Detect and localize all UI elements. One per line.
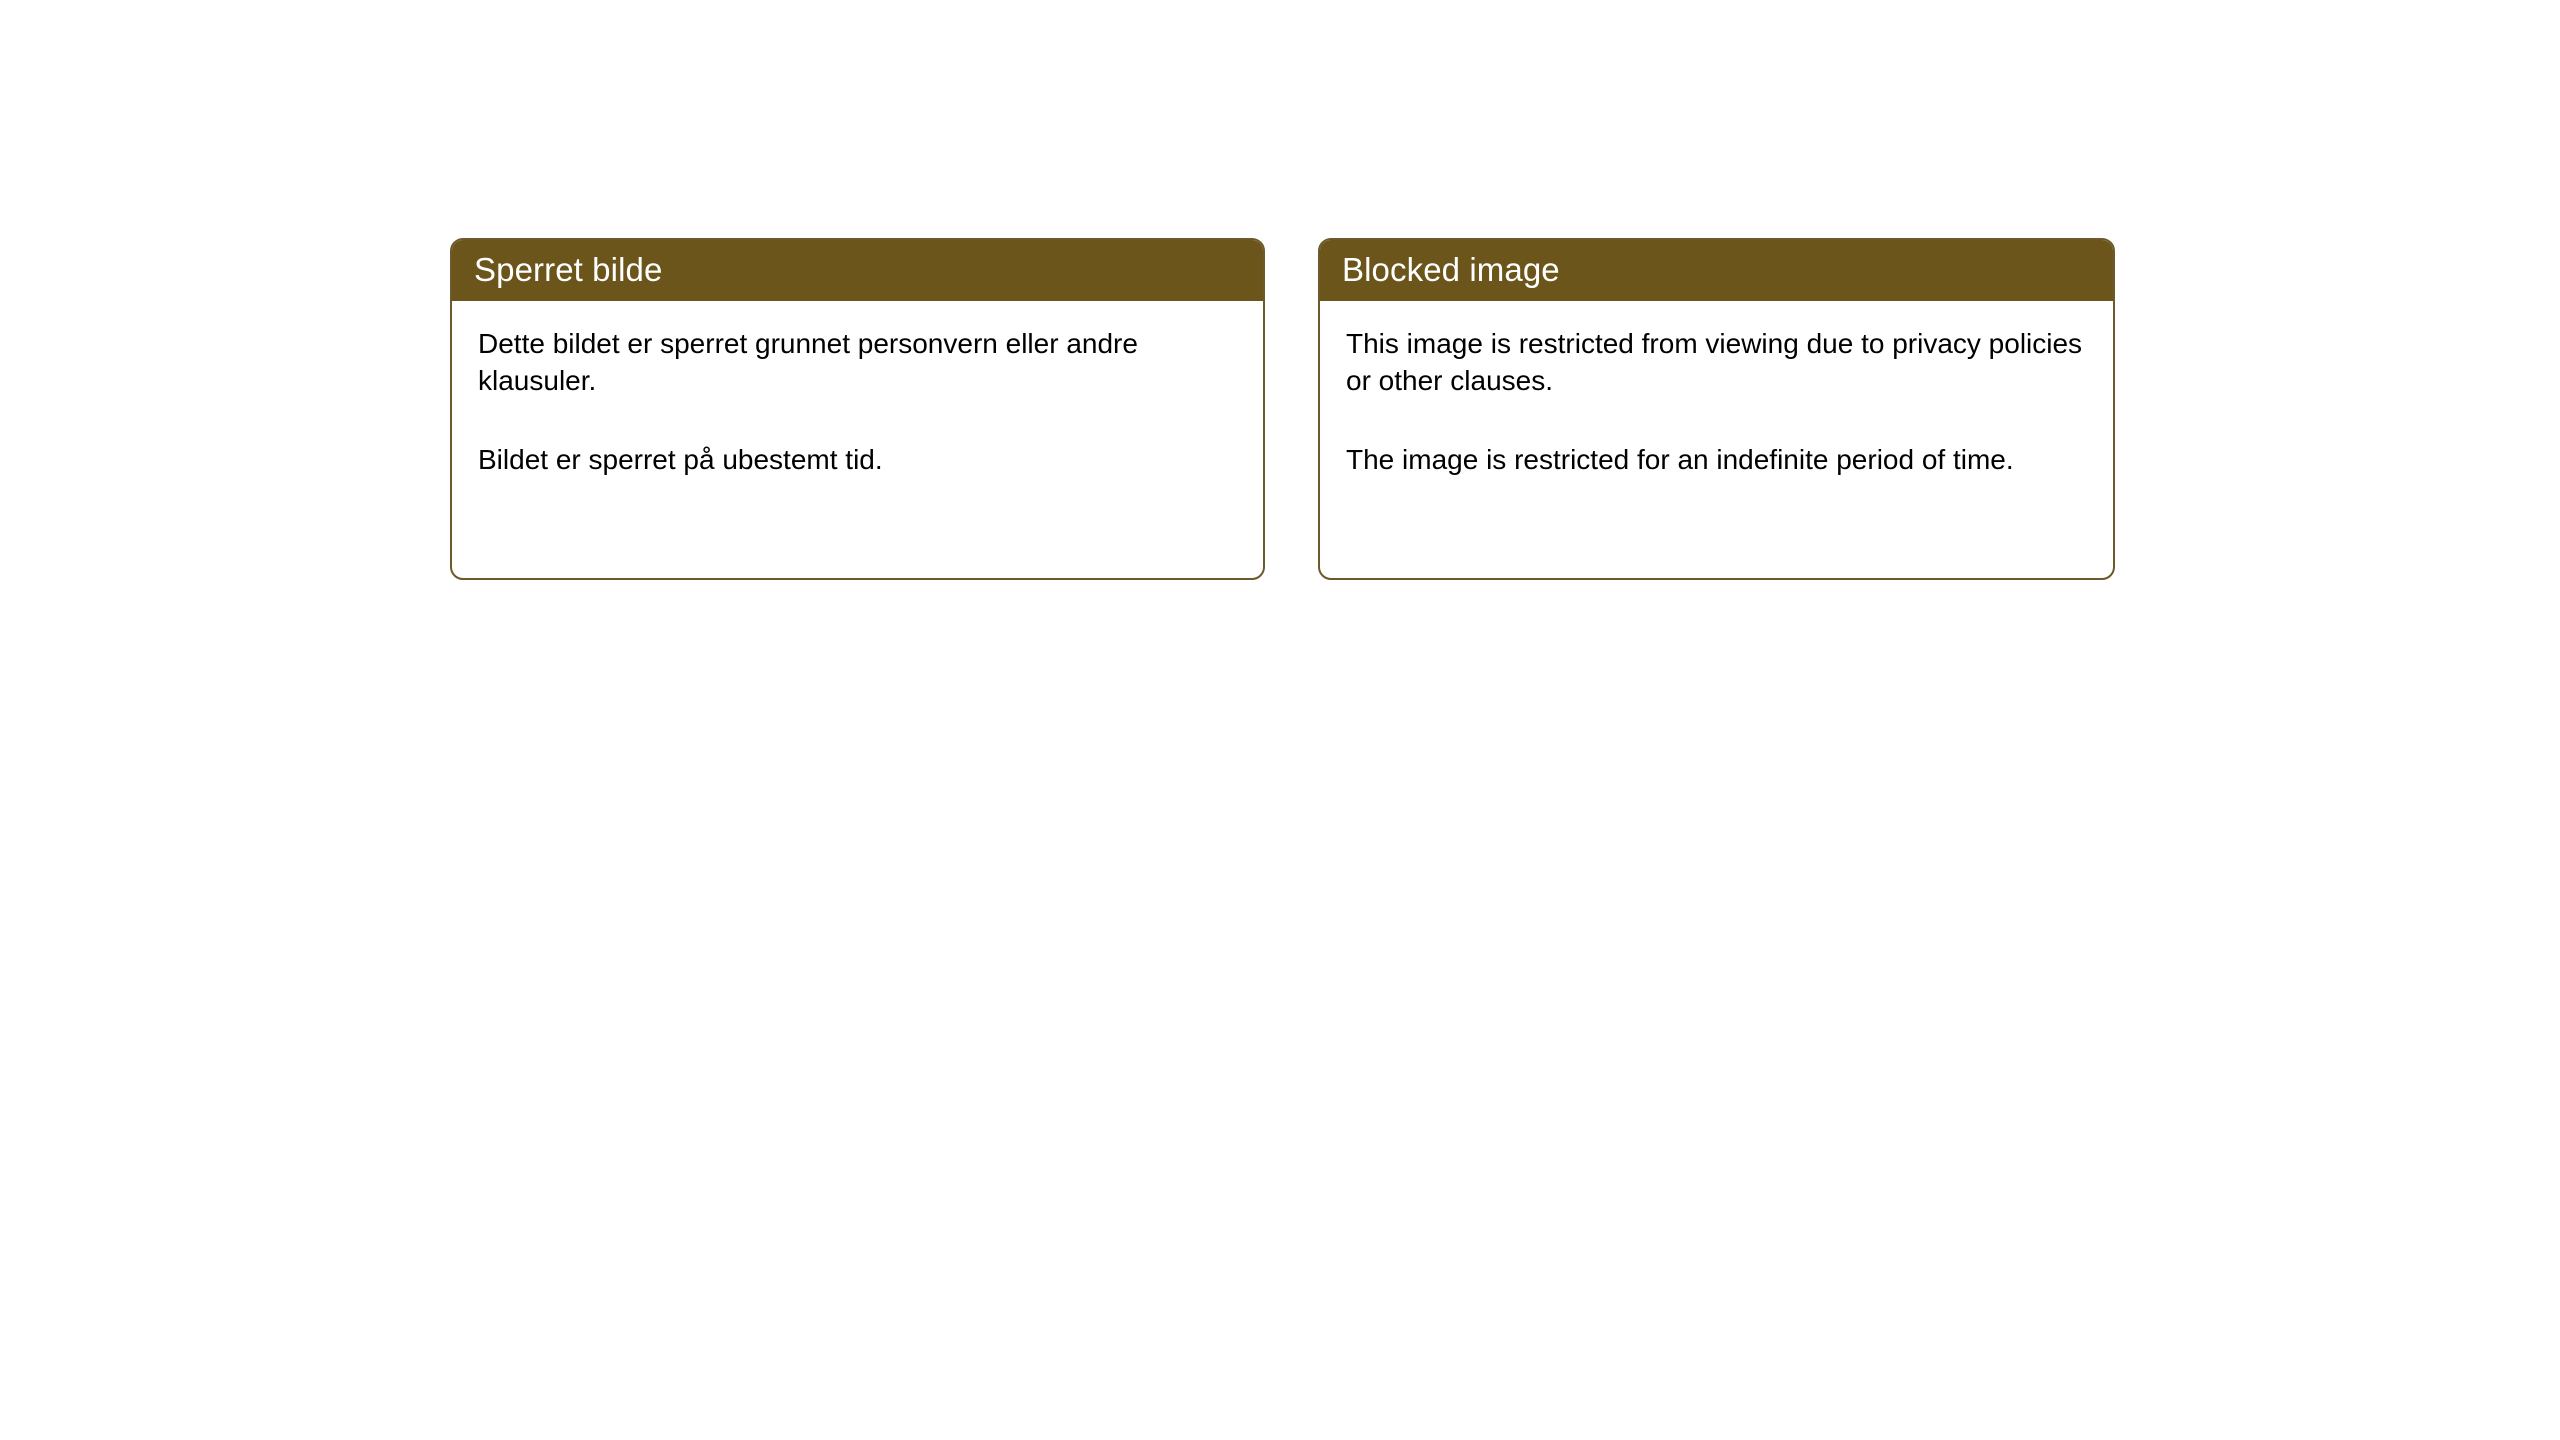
card-body-norwegian: Dette bildet er sperret grunnet personve… [452, 301, 1263, 489]
card-paragraph-reason-norwegian: Dette bildet er sperret grunnet personve… [478, 325, 1237, 399]
card-title-english: Blocked image [1342, 253, 1560, 286]
card-body-english: This image is restricted from viewing du… [1320, 301, 2113, 489]
blocked-image-notice-card-english: Blocked image This image is restricted f… [1318, 238, 2115, 580]
page-canvas: Sperret bilde Dette bildet er sperret gr… [0, 0, 2560, 1440]
card-title-norwegian: Sperret bilde [474, 253, 662, 286]
card-header-norwegian: Sperret bilde [450, 238, 1265, 301]
blocked-image-notice-card-norwegian: Sperret bilde Dette bildet er sperret gr… [450, 238, 1265, 580]
card-paragraph-reason-english: This image is restricted from viewing du… [1346, 325, 2087, 399]
card-paragraph-duration-norwegian: Bildet er sperret på ubestemt tid. [478, 441, 1237, 478]
card-paragraph-duration-english: The image is restricted for an indefinit… [1346, 441, 2087, 478]
card-header-english: Blocked image [1318, 238, 2115, 301]
